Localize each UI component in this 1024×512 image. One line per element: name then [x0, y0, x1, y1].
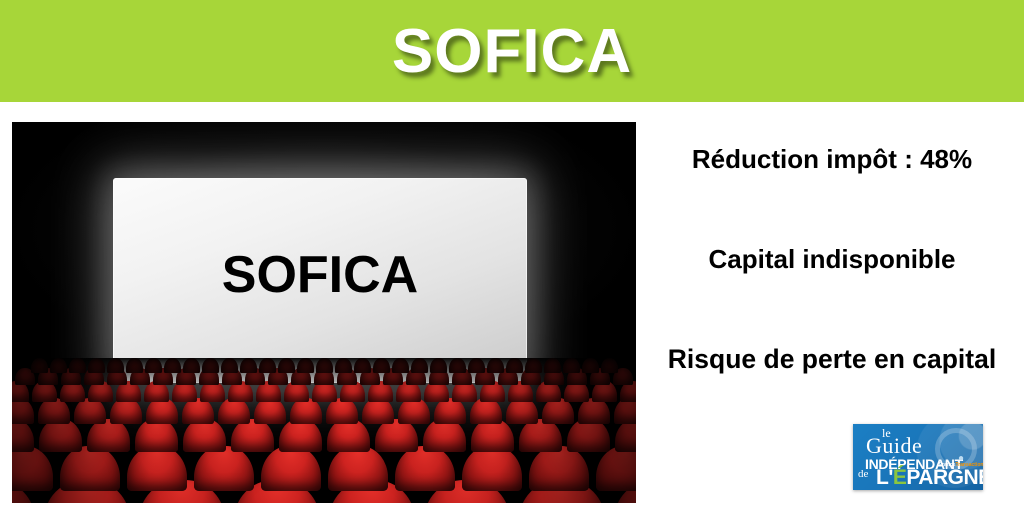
seat [107, 358, 124, 373]
seat [449, 358, 466, 373]
seat [126, 358, 143, 373]
seat [395, 446, 455, 491]
seat [596, 446, 637, 491]
logo-text-de: de [858, 469, 868, 480]
seat [373, 358, 390, 373]
seat [278, 358, 295, 373]
seat [60, 446, 120, 491]
seat [462, 446, 522, 491]
seat-row [12, 446, 636, 491]
seat-row [12, 358, 636, 373]
logo-epargne-suffix: PARGNE [906, 466, 983, 489]
seat [506, 358, 523, 373]
seat [525, 358, 542, 373]
brand-logo[interactable]: le Guide INDÉPENDANT ● FranceTransaction… [853, 424, 983, 490]
seat [601, 358, 618, 373]
seat [12, 446, 53, 491]
seat [240, 358, 257, 373]
seat [411, 358, 428, 373]
seat [316, 358, 333, 373]
cinema-screen: SOFICA [113, 178, 527, 383]
seat [259, 358, 276, 373]
seat [69, 358, 86, 373]
seat [221, 358, 238, 373]
seat [202, 358, 219, 373]
seat [50, 358, 67, 373]
fact-capital-loss-risk: Risque de perte en capital [640, 344, 1024, 375]
cinema-seats [12, 358, 636, 503]
seat [582, 358, 599, 373]
logo-text-guide: Guide [866, 435, 922, 457]
seat [328, 446, 388, 491]
seat [544, 358, 561, 373]
facts-panel: Réduction impôt : 48% Capital indisponib… [640, 122, 1024, 392]
logo-epargne-prefix: L' [876, 466, 893, 489]
cinema-screen-text: SOFICA [222, 245, 418, 305]
logo-text-epargne: L'ÉPARGNE [876, 467, 983, 488]
seat [335, 358, 352, 373]
seat [468, 358, 485, 373]
seat [430, 358, 447, 373]
seat [392, 358, 409, 373]
seat [164, 358, 181, 373]
seat [127, 446, 187, 491]
seat [529, 446, 589, 491]
seat [194, 446, 254, 491]
logo-epargne-accent: É [893, 466, 907, 489]
seat [31, 358, 48, 373]
seat [88, 358, 105, 373]
seat [487, 358, 504, 373]
seat [261, 446, 321, 491]
seat [183, 358, 200, 373]
fact-capital-locked: Capital indisponible [640, 244, 1024, 275]
seat [145, 358, 162, 373]
seat [563, 358, 580, 373]
fact-tax-reduction: Réduction impôt : 48% [640, 144, 1024, 175]
header-banner: SOFICA [0, 0, 1024, 102]
page-title: SOFICA [0, 0, 1024, 102]
seat [354, 358, 371, 373]
seat [297, 358, 314, 373]
cinema-image: SOFICA [12, 122, 636, 503]
